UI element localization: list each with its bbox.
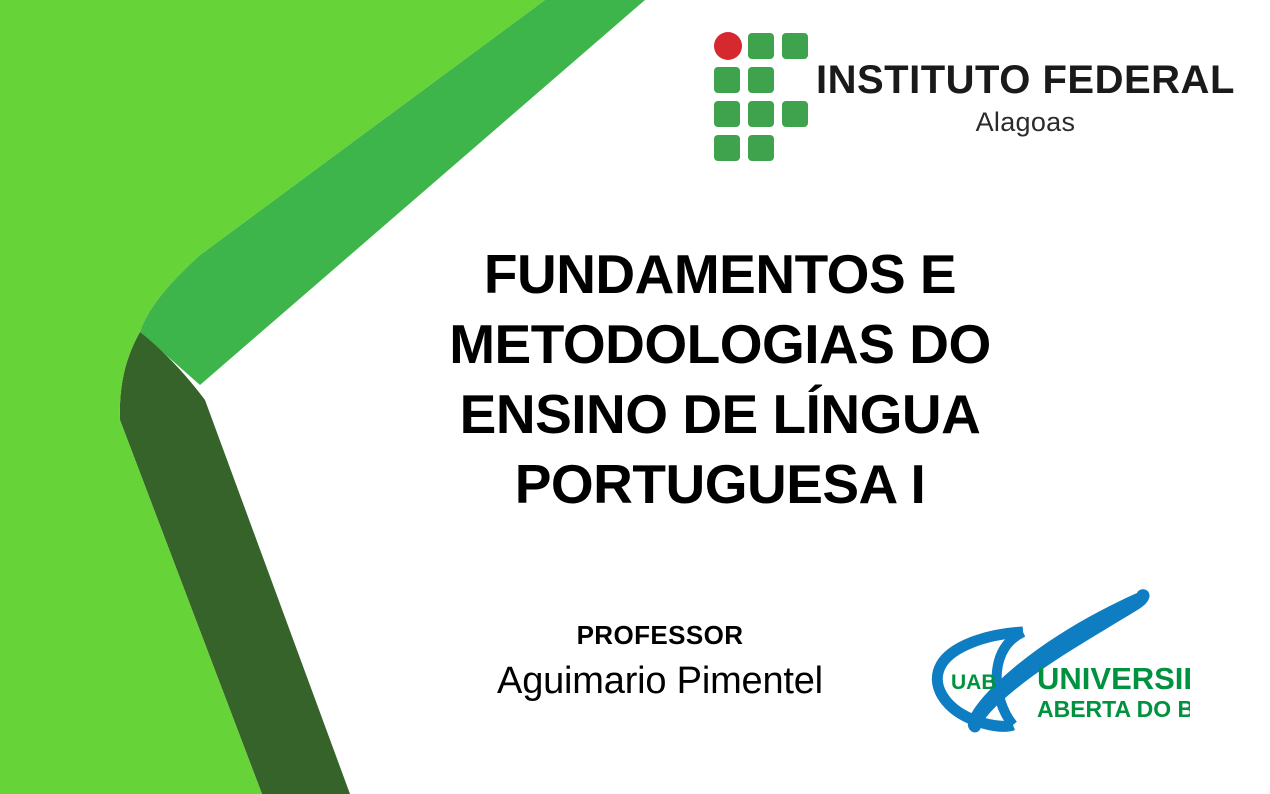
instituto-federal-mark-icon bbox=[714, 32, 808, 164]
logo-square-icon bbox=[782, 33, 808, 59]
page-title: FUNDAMENTOS E METODOLOGIAS DO ENSINO DE … bbox=[350, 240, 1090, 519]
institution-name: INSTITUTO FEDERAL bbox=[816, 60, 1235, 100]
title-line-1: FUNDAMENTOS E bbox=[350, 240, 1090, 310]
logo-square-icon bbox=[748, 135, 774, 161]
uab-line-2: ABERTA DO BRASIL bbox=[1037, 696, 1190, 722]
instituto-federal-logo: INSTITUTO FEDERAL Alagoas bbox=[714, 32, 1235, 164]
institution-campus: Alagoas bbox=[816, 109, 1235, 136]
presenter-role-label: PROFESSOR bbox=[380, 620, 940, 651]
instituto-federal-wordmark: INSTITUTO FEDERAL Alagoas bbox=[816, 60, 1235, 136]
logo-square-icon bbox=[714, 67, 740, 93]
title-slide: INSTITUTO FEDERAL Alagoas FUNDAMENTOS E … bbox=[0, 0, 1270, 794]
title-line-2: METODOLOGIAS DO bbox=[350, 310, 1090, 380]
uab-line-1: UNIVERSIDADE bbox=[1037, 661, 1190, 696]
logo-square-icon bbox=[714, 135, 740, 161]
logo-square-icon bbox=[748, 33, 774, 59]
presenter-block: PROFESSOR Aguimario Pimentel bbox=[380, 620, 940, 703]
uab-acronym: UAB bbox=[951, 671, 997, 694]
title-line-4: PORTUGUESA I bbox=[350, 450, 1090, 520]
logo-square-icon bbox=[714, 101, 740, 127]
presenter-name: Aguimario Pimentel bbox=[380, 660, 940, 703]
title-line-3: ENSINO DE LÍNGUA bbox=[350, 380, 1090, 450]
uab-logo: UAB UNIVERSIDADE ABERTA DO BRASIL bbox=[925, 585, 1190, 745]
logo-red-dot-icon bbox=[714, 32, 742, 60]
logo-square-icon bbox=[748, 67, 774, 93]
logo-square-icon bbox=[782, 101, 808, 127]
dark-green-band bbox=[120, 332, 350, 794]
logo-square-icon bbox=[748, 101, 774, 127]
